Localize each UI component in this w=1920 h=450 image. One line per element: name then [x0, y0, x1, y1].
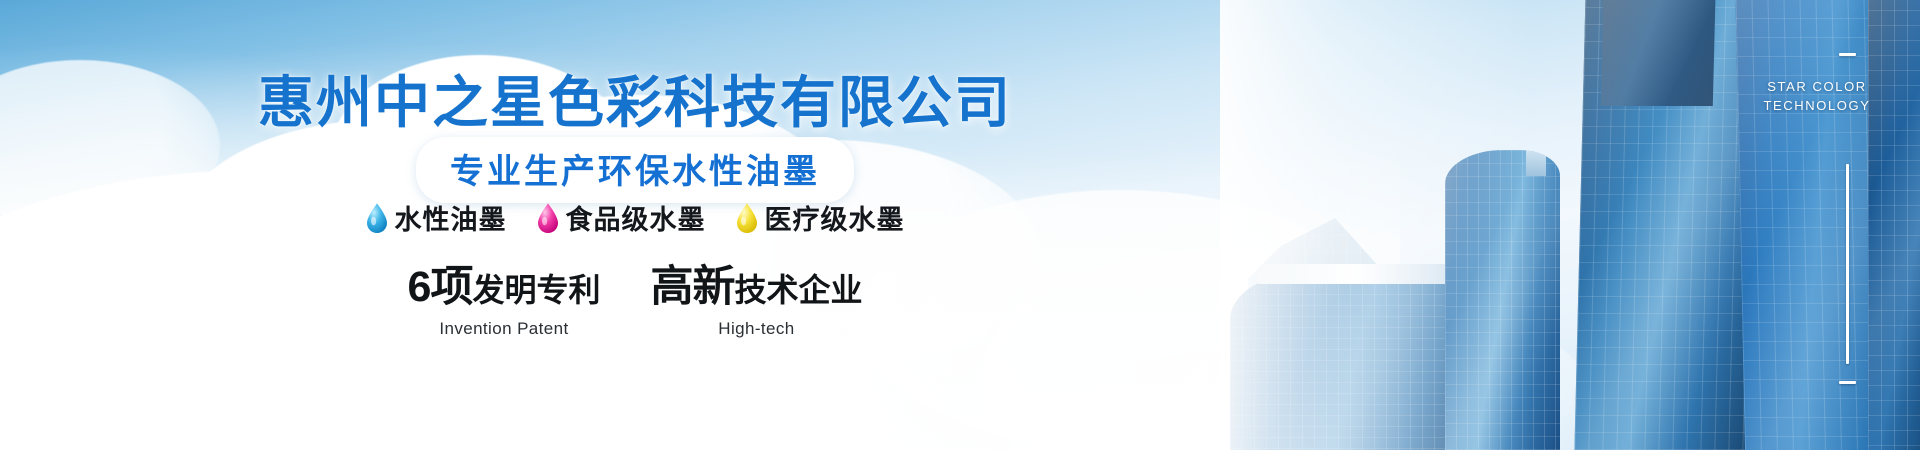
skyscrapers-photo: STAR COLOR TECHNOLOGY — [1220, 0, 1920, 450]
brand-mark-bottom-dash — [1839, 381, 1856, 384]
credential-invention-patent: 6项发明专利 Invention Patent — [408, 262, 601, 339]
ink-item-food-grade: 食品级水墨 — [537, 198, 706, 237]
brand-mark-top-dash — [1839, 53, 1856, 56]
credential-high-tech: 高新技术企业 High-tech — [650, 262, 862, 339]
credential-number: 6 — [408, 263, 431, 311]
credential-en-label: Invention Patent — [408, 319, 601, 339]
credentials-list: 6项发明专利 Invention Patent 高新技术企业 High-tech — [0, 262, 1270, 339]
credential-cn-rest: 技术企业 — [734, 272, 862, 308]
ink-type-list: 水性油墨 食品级水墨 — [0, 198, 1270, 237]
building-center-tower — [1445, 150, 1560, 450]
water-drop-icon — [366, 203, 388, 233]
credential-unit: 项 — [430, 263, 472, 311]
tagline-pill: 专业生产环保水性油墨 — [416, 137, 854, 203]
ink-item-medical-grade: 医疗级水墨 — [736, 198, 905, 237]
credential-cn-rest: 发明专利 — [472, 272, 600, 308]
building-low-rise-crown — [1258, 264, 1468, 284]
building-right-slab — [1868, 0, 1920, 450]
water-drop-icon — [537, 203, 559, 233]
tagline-container: 专业生产环保水性油墨 — [0, 137, 1270, 203]
credential-en-label: High-tech — [650, 319, 862, 339]
credential-cn-line: 高新技术企业 — [650, 262, 862, 314]
ink-item-water-based: 水性油墨 — [366, 198, 507, 237]
ink-item-label: 食品级水墨 — [566, 198, 706, 237]
company-title: 惠州中之星色彩科技有限公司 — [0, 58, 1270, 139]
company-hero-banner: Star Color STAR COLOR TECHNOLOGY — [0, 0, 1920, 450]
water-drop-icon — [736, 203, 758, 233]
brand-mark-line-1: STAR COLOR — [1742, 78, 1892, 97]
brand-mark-vertical-rule — [1846, 164, 1849, 364]
banner-content: 惠州中之星色彩科技有限公司 专业生产环保水性油墨 水性油墨 — [0, 0, 1270, 450]
credential-cn-line: 6项发明专利 — [408, 262, 601, 314]
brand-mark-line-2: TECHNOLOGY — [1742, 97, 1892, 116]
ink-item-label: 水性油墨 — [395, 198, 507, 237]
ink-item-label: 医疗级水墨 — [765, 198, 905, 237]
credential-highlight: 高新 — [650, 263, 734, 311]
brand-mark-text: STAR COLOR TECHNOLOGY — [1742, 78, 1892, 116]
